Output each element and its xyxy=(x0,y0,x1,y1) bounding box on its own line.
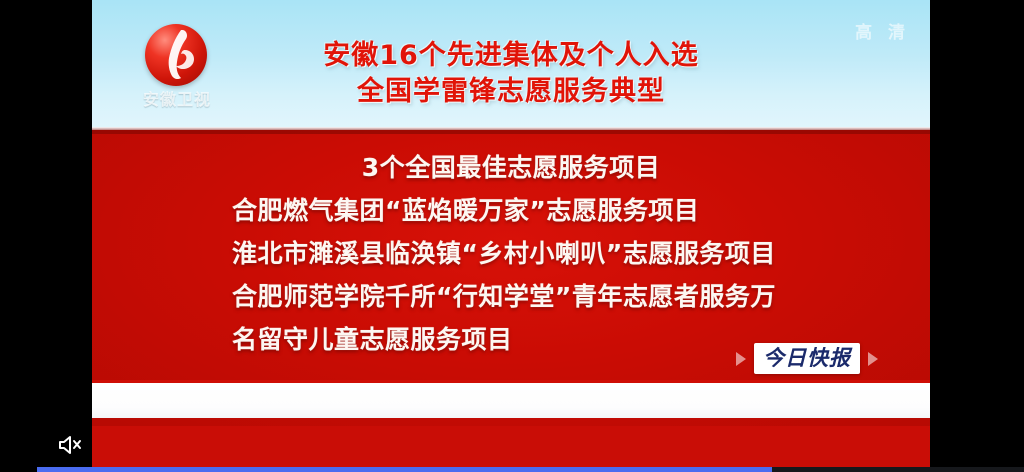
mute-button[interactable] xyxy=(48,428,92,462)
letterbox-left xyxy=(0,0,92,472)
letterbox-right xyxy=(930,0,1024,472)
body-item-2: 淮北市濉溪县临涣镇“乡村小喇叭”志愿服务项目 xyxy=(92,232,930,275)
body-item-3: 合肥师范学院千所“行知学堂”青年志愿者服务万 xyxy=(92,275,930,318)
chevron-right-icon xyxy=(736,352,746,366)
headline-block: 安徽16个先进集体及个人入选 全国学雷锋志愿服务典型 xyxy=(92,38,930,110)
body-item-1: 合肥燃气集团“蓝焰暖万家”志愿服务项目 xyxy=(92,189,930,232)
headline-line-1: 安徽16个先进集体及个人入选 xyxy=(92,38,930,74)
headline-line-2: 全国学雷锋志愿服务典型 xyxy=(92,74,930,110)
chevron-right-icon xyxy=(868,352,878,366)
program-badge-box: 今日快报 xyxy=(754,343,860,374)
program-badge: 今日快报 xyxy=(736,343,878,374)
program-badge-label: 今日快报 xyxy=(763,346,851,370)
speaker-muted-icon xyxy=(57,434,83,456)
body-heading: 3个全国最佳志愿服务项目 xyxy=(92,146,930,189)
red-content-panel: 3个全国最佳志愿服务项目 合肥燃气集团“蓝焰暖万家”志愿服务项目 淮北市濉溪县临… xyxy=(92,130,930,426)
video-frame[interactable]: 安徽卫视 高 清 安徽16个先进集体及个人入选 全国学雷锋志愿服务典型 3个全国… xyxy=(92,0,930,472)
video-player: 安徽卫视 高 清 安徽16个先进集体及个人入选 全国学雷锋志愿服务典型 3个全国… xyxy=(0,0,1024,472)
caption-strip xyxy=(92,380,930,418)
progress-bar-fill xyxy=(37,467,772,472)
progress-bar[interactable] xyxy=(37,467,1024,472)
body-text-block: 3个全国最佳志愿服务项目 合肥燃气集团“蓝焰暖万家”志愿服务项目 淮北市濉溪县临… xyxy=(92,146,930,361)
